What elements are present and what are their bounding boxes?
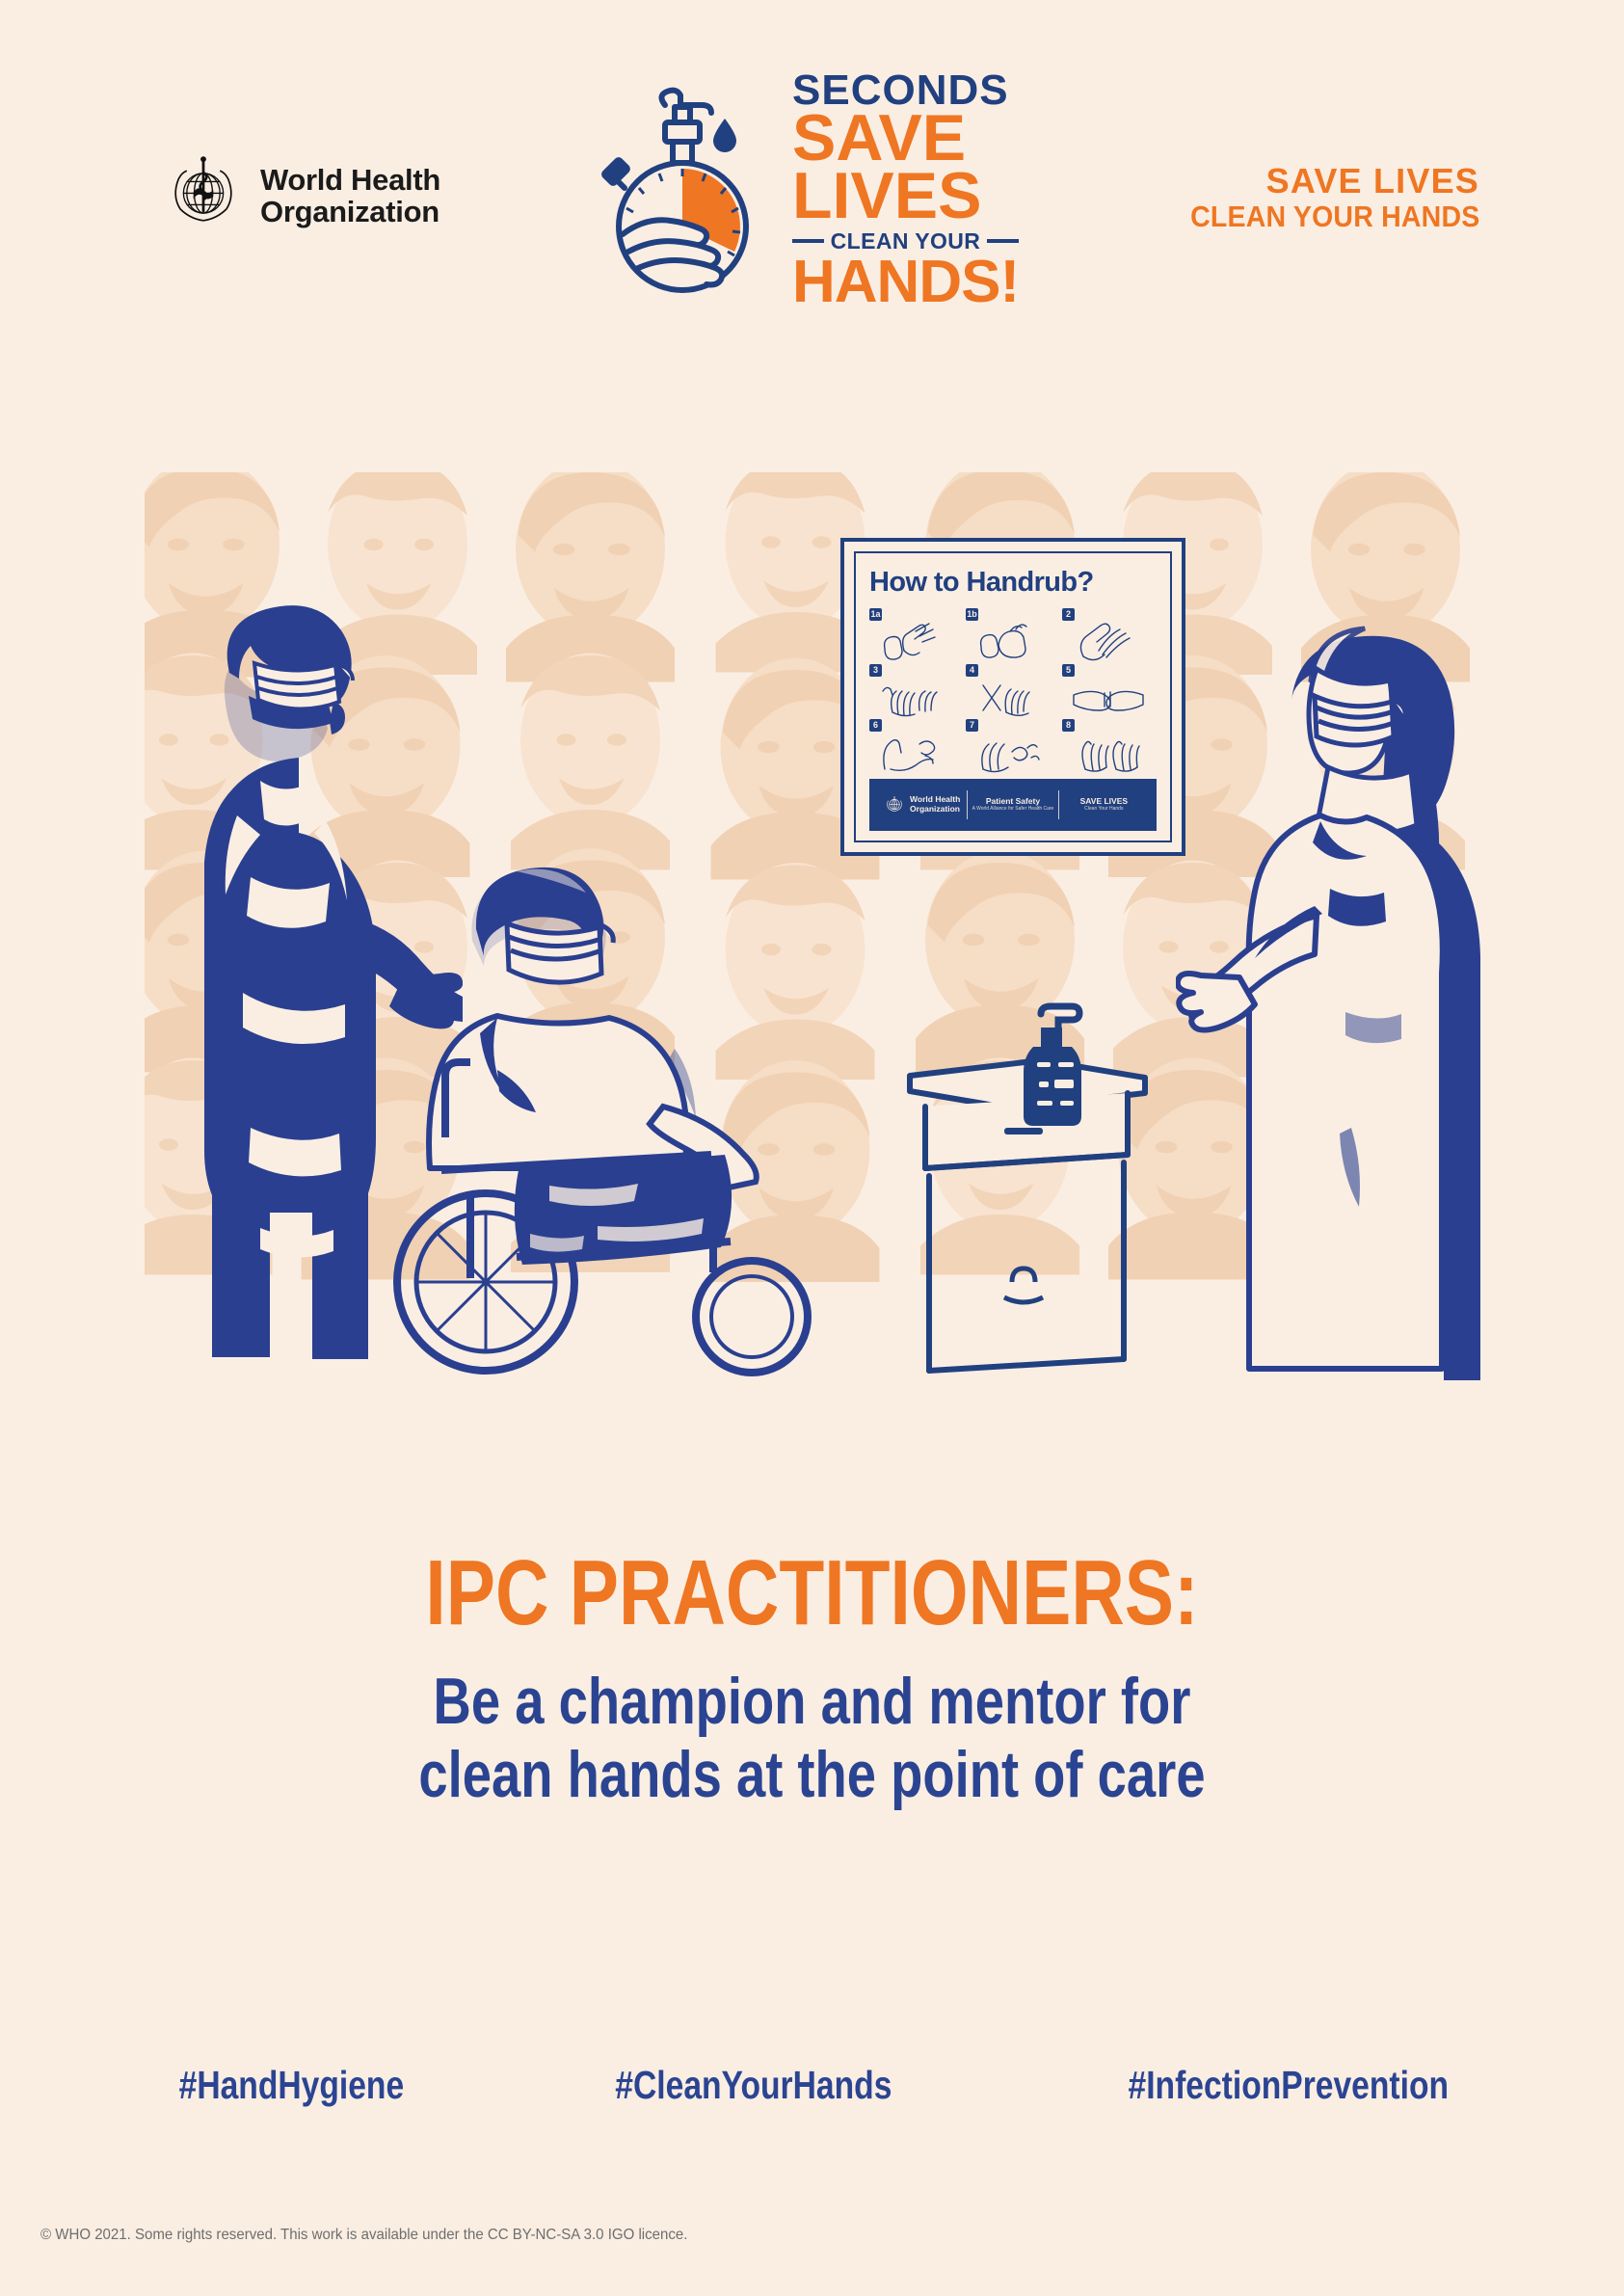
headline-block: IPC PRACTITIONERS: Be a champion and men… (0, 1547, 1624, 1811)
subheadline-line-1: Be a champion and mentor for (163, 1665, 1462, 1738)
campaign-tagline: SAVE LIVES CLEAN YOUR HANDS (1165, 162, 1479, 234)
hashtag-cleanyourhands[interactable]: #CleanYourHands (615, 2063, 892, 2108)
handrub-step: 5 (1062, 664, 1157, 718)
who-logo: World Health Organization (162, 154, 440, 237)
footer-who-line2: Organization (910, 805, 960, 814)
handrub-step: 1b (966, 608, 1060, 662)
handrub-hands-icon (877, 731, 954, 774)
handrub-hands-icon (877, 620, 954, 663)
bedside-table (896, 993, 1157, 1378)
hashtag-infectionprevention[interactable]: #InfectionPrevention (1129, 2063, 1450, 2108)
hashtag-row: #HandHygiene #CleanYourHands #InfectionP… (154, 2063, 1484, 2108)
who-emblem-icon (884, 794, 905, 815)
stopwatch-handwash-icon (590, 80, 783, 297)
tagline-clean-your-hands: CLEAN YOUR HANDS (1190, 200, 1479, 234)
wall-poster-how-to-handrub: How to Handrub? 1a (840, 538, 1185, 856)
hashtag-handhygiene[interactable]: #HandHygiene (179, 2063, 405, 2108)
handrub-step: 4 (966, 664, 1060, 718)
patient-wheelchair (357, 848, 858, 1388)
wall-poster-frame: How to Handrub? 1a (840, 538, 1185, 856)
poster-header: World Health Organization (0, 0, 1624, 414)
wall-poster-footer: World Health Organization Patient Safety… (869, 779, 1157, 831)
handrub-hands-icon (1070, 676, 1147, 719)
handrub-hands-icon (1070, 620, 1147, 663)
wall-poster-footer-who: World Health Organization (877, 794, 967, 815)
wall-poster-title: How to Handrub? (869, 567, 1157, 599)
hand-sanitizer-bottle (1024, 1006, 1081, 1126)
handrub-step: 2 (1062, 608, 1157, 662)
campaign-word-hands: HANDS! (792, 255, 1019, 309)
campaign-wordmark: SECONDS SAVE LIVES CLEAN YOUR HANDS! (792, 67, 1019, 309)
handrub-hands-icon (973, 731, 1051, 774)
copyright-notice: © WHO 2021. Some rights reserved. This w… (40, 2227, 687, 2244)
handrub-step: 6 (869, 719, 964, 773)
who-emblem-icon (162, 154, 245, 237)
handrub-step: 7 (966, 719, 1060, 773)
campaign-logo: SECONDS SAVE LIVES CLEAN YOUR HANDS! (590, 77, 1033, 299)
handrub-hands-icon (973, 620, 1051, 663)
handrub-step: 3 (869, 664, 964, 718)
handrub-hands-icon (1070, 731, 1147, 774)
footer-divider (1058, 790, 1059, 819)
illustration-scene: How to Handrub? 1a (0, 414, 1624, 1533)
wall-poster-footer-patient-safety: Patient Safety A World Alliance for Safe… (968, 797, 1057, 812)
footer-clean-your-hands: Clean Your Hands (1080, 807, 1128, 813)
wall-poster-inner: How to Handrub? 1a (854, 551, 1172, 842)
handrub-hands-icon (973, 676, 1051, 719)
page-title: IPC PRACTITIONERS: (163, 1547, 1462, 1640)
wall-poster-footer-save-lives: SAVE LIVES Clean Your Hands (1059, 797, 1149, 812)
footer-patient-safety-sub: A World Alliance for Safer Health Care (972, 807, 1054, 813)
who-wordmark: World Health Organization (260, 164, 440, 228)
rule-right (987, 239, 1019, 243)
footer-divider (967, 790, 968, 819)
who-hand-hygiene-poster: World Health Organization (0, 0, 1624, 2296)
handrub-step: 1a (869, 608, 964, 662)
wall-poster-steps-grid: 1a 1b (869, 608, 1157, 773)
handrub-step: 8 (1062, 719, 1157, 773)
tagline-save-lives: SAVE LIVES (1165, 162, 1479, 200)
campaign-word-lives: LIVES (792, 168, 1019, 226)
rule-left (792, 239, 824, 243)
subheadline-line-2: clean hands at the point of care (163, 1738, 1462, 1811)
handrub-hands-icon (877, 676, 954, 719)
health-worker-female (1176, 607, 1523, 1388)
